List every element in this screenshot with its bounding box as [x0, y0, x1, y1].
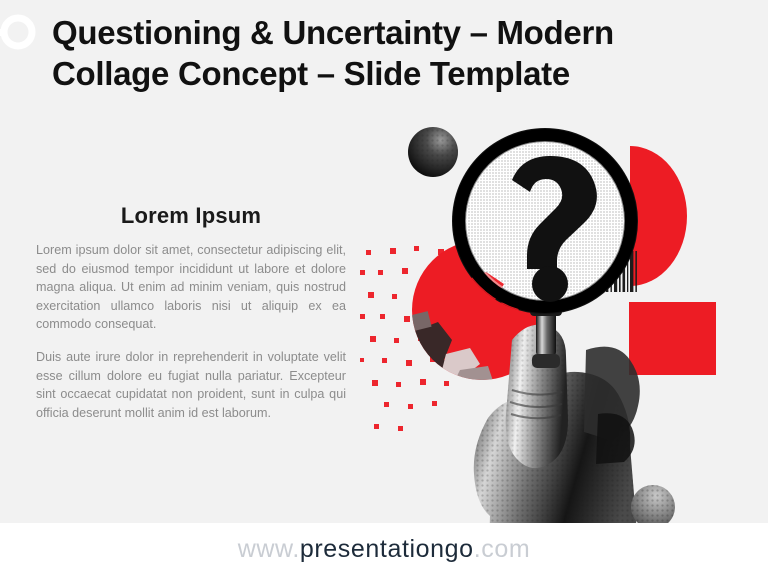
slide-background: Questioning & Uncertainty – Modern Colla…: [0, 0, 768, 523]
presentationgo-logo-icon: [0, 8, 42, 52]
footer-url-prefix: www.: [238, 535, 300, 563]
page-title-line-2: Collage Concept – Slide Template: [52, 53, 742, 94]
halftone-black-sphere: [408, 127, 458, 177]
footer-url-brand: presentationgo: [300, 535, 474, 563]
footer-url-suffix: .com: [474, 535, 531, 563]
slide-canvas: Questioning & Uncertainty – Modern Colla…: [0, 0, 768, 576]
red-square: [629, 302, 716, 375]
page-title-line-1: Questioning & Uncertainty – Modern: [52, 12, 742, 53]
page-title: Questioning & Uncertainty – Modern Colla…: [52, 12, 742, 94]
halftone-gray-sphere: [631, 485, 675, 523]
collage-artwork: [360, 118, 768, 523]
red-half-disc: [630, 146, 687, 286]
content-paragraph-2: Duis aute irure dolor in reprehenderit i…: [36, 348, 346, 422]
text-column: Lorem Ipsum Lorem ipsum dolor sit amet, …: [36, 203, 346, 422]
content-heading: Lorem Ipsum: [36, 203, 346, 229]
footer-url[interactable]: www.presentationgo.com: [238, 535, 531, 564]
footer-bar: www.presentationgo.com: [0, 523, 768, 576]
content-paragraph-1: Lorem ipsum dolor sit amet, consectetur …: [36, 241, 346, 334]
